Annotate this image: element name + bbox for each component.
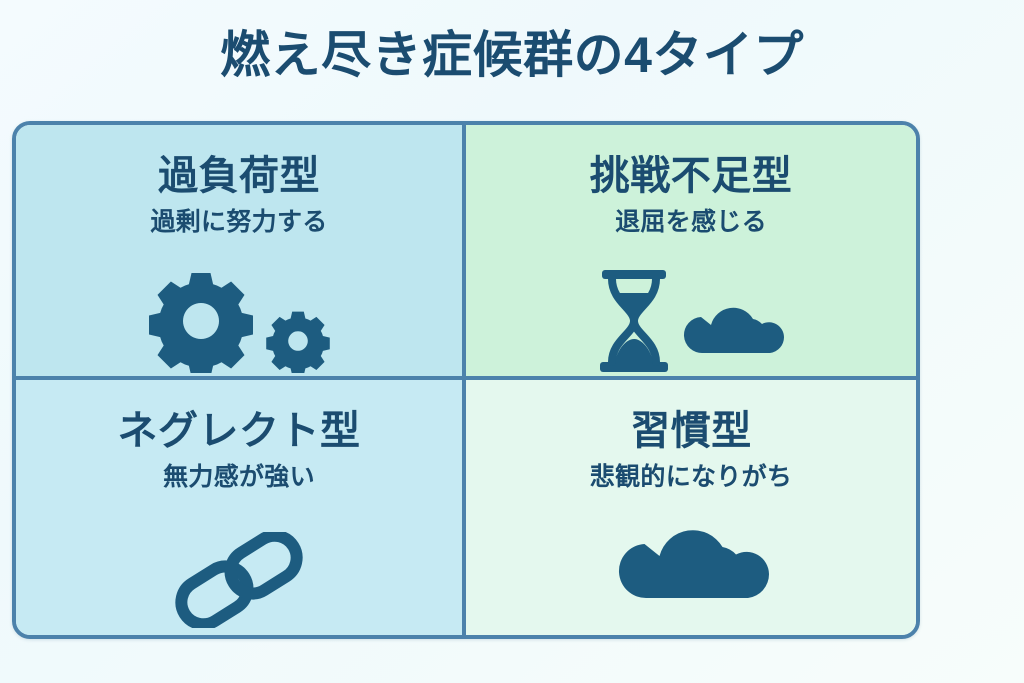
quadrant-subtitle-neglect: 無力感が強い — [163, 460, 315, 494]
page-title: 燃え尽き症候群の4タイプ — [0, 24, 1024, 86]
quadrant-title-neglect: ネグレクト型 — [118, 406, 361, 456]
gear-large-icon — [147, 269, 255, 373]
cloud-icon — [609, 520, 773, 628]
quadrant-title-under-challenged: 挑戦不足型 — [590, 151, 793, 201]
infographic-page: 燃え尽き症候群の4タイプ 過負荷型 過剰に努力する 挑戦不足型 退屈を感じる — [0, 0, 1024, 683]
quadrant-icons-overload — [147, 253, 331, 373]
gear-small-icon — [265, 309, 331, 373]
chain-link-icon — [163, 532, 315, 628]
quadrant-icons-under-challenged — [598, 253, 784, 373]
quadrant-icons-habitual — [609, 508, 773, 628]
cloud-icon — [680, 301, 784, 373]
quadrant-overload: 過負荷型 過剰に努力する — [16, 125, 466, 380]
quadrant-subtitle-overload: 過剰に努力する — [150, 205, 327, 239]
quadrant-subtitle-under-challenged: 退屈を感じる — [615, 205, 767, 239]
quadrant-title-overload: 過負荷型 — [158, 151, 320, 201]
burnout-types-matrix: 過負荷型 過剰に努力する 挑戦不足型 退屈を感じる — [12, 121, 920, 639]
quadrant-under-challenged: 挑戦不足型 退屈を感じる — [466, 125, 916, 380]
quadrant-subtitle-habitual: 悲観的になりがち — [590, 460, 792, 494]
quadrant-icons-neglect — [163, 508, 315, 628]
quadrant-title-habitual: 習慣型 — [630, 406, 752, 456]
hourglass-icon — [598, 269, 670, 373]
quadrant-habitual: 習慣型 悲観的になりがち — [466, 380, 916, 635]
quadrant-neglect: ネグレクト型 無力感が強い — [16, 380, 466, 635]
